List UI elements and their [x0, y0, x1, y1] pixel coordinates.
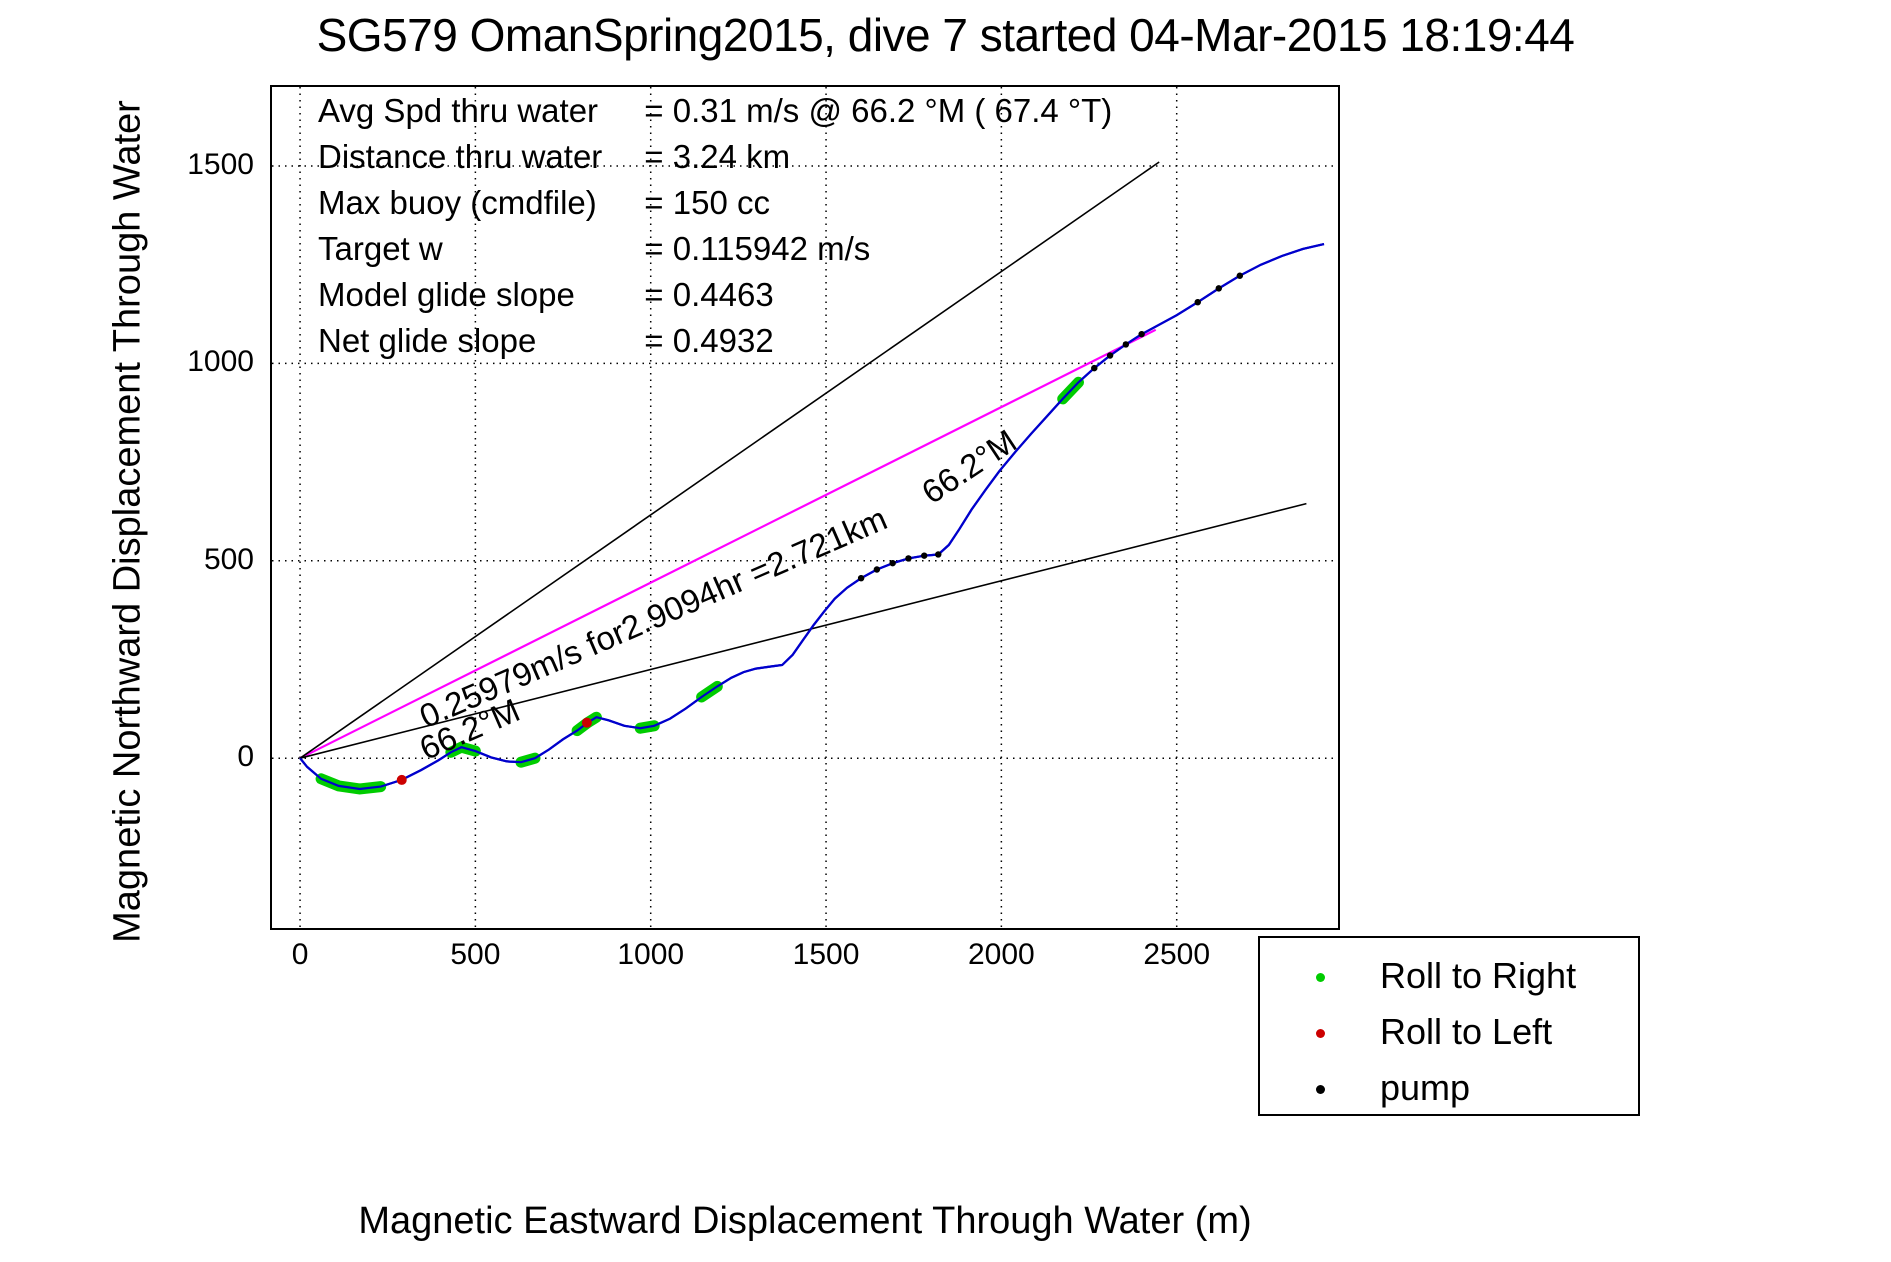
- series-marker-top: [1123, 341, 1129, 347]
- x-tick-label-4: 2000: [941, 938, 1061, 972]
- summary-value: = 0.115942 m/s: [636, 226, 1112, 272]
- summary-key: Max buoy (cmdfile): [318, 180, 636, 226]
- summary-value: = 150 cc: [636, 180, 1112, 226]
- summary-value: = 3.24 km: [636, 134, 1112, 180]
- series-marker-top: [1195, 299, 1201, 305]
- y-tick-label-1: 500: [134, 543, 254, 577]
- x-tick-label-5: 2500: [1117, 938, 1237, 972]
- y-tick-label-2: 1000: [134, 345, 254, 379]
- x-tick-label-3: 1500: [766, 938, 886, 972]
- series-marker-top: [858, 575, 864, 581]
- series-marker-top: [397, 775, 407, 785]
- y-axis-label: Magnetic Northward Displacement Through …: [107, 72, 150, 972]
- summary-row: Avg Spd thru water= 0.31 m/s @ 66.2 °M (…: [318, 88, 1112, 134]
- series-marker-top: [1216, 285, 1222, 291]
- summary-row: Model glide slope= 0.4463: [318, 272, 1112, 318]
- x-axis-label: Magnetic Eastward Displacement Through W…: [270, 1200, 1340, 1243]
- chart-legend[interactable]: Roll to RightRoll to Leftpump: [1258, 936, 1640, 1116]
- summary-value: = 0.31 m/s @ 66.2 °M ( 67.4 °T): [636, 88, 1112, 134]
- legend-marker-dot-icon: [1260, 971, 1380, 982]
- y-tick-label-3: 1500: [134, 148, 254, 182]
- legend-item-roll-to-left[interactable]: Roll to Left: [1260, 1002, 1642, 1062]
- series-marker-top: [935, 551, 941, 557]
- summary-key: Model glide slope: [318, 272, 636, 318]
- legend-label: Roll to Left: [1380, 1011, 1552, 1053]
- series-marker-top: [1138, 331, 1144, 337]
- x-tick-label-0: 0: [240, 938, 360, 972]
- legend-item-roll-to-right[interactable]: Roll to Right: [1260, 946, 1642, 1006]
- summary-key: Net glide slope: [318, 318, 636, 364]
- dive-summary-rows: Avg Spd thru water= 0.31 m/s @ 66.2 °M (…: [318, 88, 1112, 364]
- summary-value: = 0.4463: [636, 272, 1112, 318]
- summary-row: Net glide slope= 0.4932: [318, 318, 1112, 364]
- legend-label: pump: [1380, 1067, 1470, 1109]
- series-marker-top: [889, 560, 895, 566]
- page-title: SG579 OmanSpring2015, dive 7 started 04-…: [0, 8, 1891, 62]
- dive-summary-table: Avg Spd thru water= 0.31 m/s @ 66.2 °M (…: [318, 88, 1112, 364]
- y-axis-unit-label: (m): [171, 0, 214, 142]
- series-marker-top: [1091, 365, 1097, 371]
- summary-row: Target w= 0.115942 m/s: [318, 226, 1112, 272]
- summary-key: Avg Spd thru water: [318, 88, 636, 134]
- y-tick-label-0: 0: [134, 740, 254, 774]
- series-marker-top: [921, 552, 927, 558]
- summary-key: Target w: [318, 226, 636, 272]
- series-marker-top: [874, 566, 880, 572]
- legend-marker-dot-icon: [1260, 1083, 1380, 1094]
- x-tick-label-1: 500: [415, 938, 535, 972]
- summary-value: = 0.4932: [636, 318, 1112, 364]
- series-marker-top: [1237, 273, 1243, 279]
- legend-marker-dot-icon: [1260, 1027, 1380, 1038]
- x-tick-label-2: 1000: [591, 938, 711, 972]
- legend-item-pump[interactable]: pump: [1260, 1058, 1642, 1118]
- legend-label: Roll to Right: [1380, 955, 1576, 997]
- series-marker-top: [905, 555, 911, 561]
- summary-row: Distance thru water= 3.24 km: [318, 134, 1112, 180]
- summary-row: Max buoy (cmdfile)= 150 cc: [318, 180, 1112, 226]
- series-marker-top: [582, 718, 592, 728]
- summary-key: Distance thru water: [318, 134, 636, 180]
